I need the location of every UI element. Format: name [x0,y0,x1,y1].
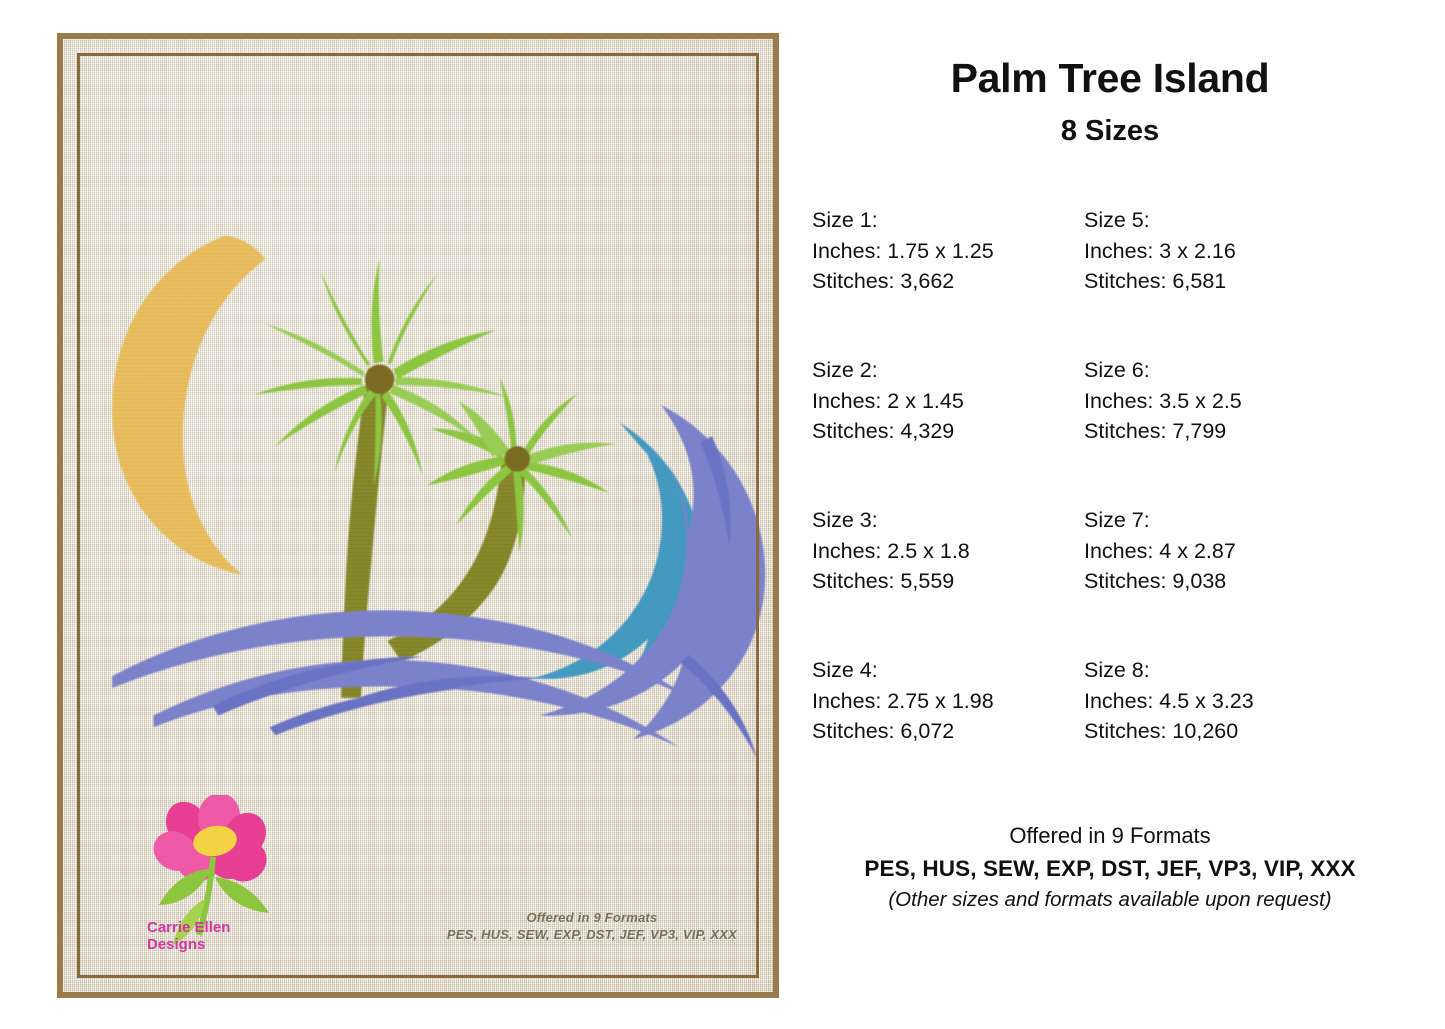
formats-heading: Offered in 9 Formats [790,823,1430,849]
size-inches: Inches: 2 x 1.45 [812,386,1084,417]
size-stitches: Stitches: 6,581 [1084,266,1356,297]
formats-block: Offered in 9 Formats PES, HUS, SEW, EXP,… [790,823,1430,912]
size-count-subtitle: 8 Sizes [790,115,1430,148]
size-block: Size 1: Inches: 1.75 x 1.25 Stitches: 3,… [812,205,1084,355]
brand-name-line-1: Carrie Ellen [147,920,287,937]
design-preview-panel: Carrie Ellen Designs Offered in 9 Format… [57,33,779,998]
size-stitches: Stitches: 4,329 [812,416,1084,447]
size-block: Size 3: Inches: 2.5 x 1.8 Stitches: 5,55… [812,505,1084,655]
size-block: Size 8: Inches: 4.5 x 3.23 Stitches: 10,… [1084,655,1356,805]
formats-note: (Other sizes and formats available upon … [790,888,1430,912]
size-stitches: Stitches: 3,662 [812,266,1084,297]
size-stitches: Stitches: 7,799 [1084,416,1356,447]
size-stitches: Stitches: 5,559 [812,566,1084,597]
size-inches: Inches: 4 x 2.87 [1084,536,1356,567]
watermark-line-2: PES, HUS, SEW, EXP, DST, JEF, VP3, VIP, … [447,926,737,944]
size-label: Size 5: [1084,205,1356,236]
photo-format-watermark: Offered in 9 Formats PES, HUS, SEW, EXP,… [447,909,737,944]
size-stitches: Stitches: 10,260 [1084,716,1356,747]
size-inches: Inches: 4.5 x 3.23 [1084,686,1356,717]
size-stitches: Stitches: 6,072 [812,716,1084,747]
size-inches: Inches: 2.75 x 1.98 [812,686,1084,717]
size-label: Size 1: [812,205,1084,236]
size-stitches: Stitches: 9,038 [1084,566,1356,597]
size-block: Size 6: Inches: 3.5 x 2.5 Stitches: 7,79… [1084,355,1356,505]
brand-logo-text: Carrie Ellen Designs [147,920,287,954]
brand-name-line-2: Designs [147,937,287,954]
formats-list: PES, HUS, SEW, EXP, DST, JEF, VP3, VIP, … [790,856,1430,882]
size-block: Size 4: Inches: 2.75 x 1.98 Stitches: 6,… [812,655,1084,805]
size-inches: Inches: 2.5 x 1.8 [812,536,1084,567]
size-label: Size 4: [812,655,1084,686]
size-label: Size 7: [1084,505,1356,536]
size-inches: Inches: 1.75 x 1.25 [812,236,1084,267]
title-block: Palm Tree Island 8 Sizes [790,55,1430,148]
design-info-column: Palm Tree Island 8 Sizes Size 1: Inches:… [790,33,1430,998]
size-label: Size 8: [1084,655,1356,686]
crescent-moon-motif [112,236,265,575]
size-inches: Inches: 3.5 x 2.5 [1084,386,1356,417]
size-specifications-grid: Size 1: Inches: 1.75 x 1.25 Stitches: 3,… [812,205,1412,805]
page-title: Palm Tree Island [790,55,1430,102]
watermark-line-1: Offered in 9 Formats [447,909,737,927]
size-label: Size 3: [812,505,1084,536]
size-block: Size 5: Inches: 3 x 2.16 Stitches: 6,581 [1084,205,1356,355]
size-block: Size 7: Inches: 4 x 2.87 Stitches: 9,038 [1084,505,1356,655]
size-block: Size 2: Inches: 2 x 1.45 Stitches: 4,329 [812,355,1084,505]
size-label: Size 2: [812,355,1084,386]
size-inches: Inches: 3 x 2.16 [1084,236,1356,267]
size-label: Size 6: [1084,355,1356,386]
